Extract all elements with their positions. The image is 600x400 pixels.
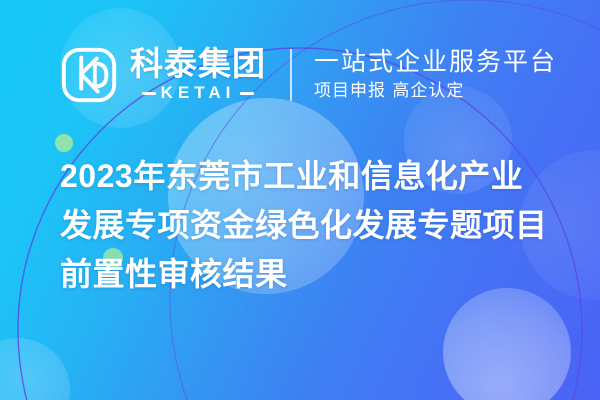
tagline-sub-text: 项目申报 高企认定 [314, 80, 557, 102]
header-divider [290, 49, 292, 101]
banner-header: 科泰集团 KETAI 一站式企业服务平台 项目申报 高企认定 [0, 36, 600, 114]
brand-wordmark: 科泰集团 KETAI [130, 47, 266, 104]
decorative-dot-green-upper [55, 134, 73, 152]
brand-name-en-row: KETAI [142, 83, 255, 103]
ketai-kd-monogram-icon [58, 44, 120, 106]
brand-tagline: 一站式企业服务平台 项目申报 高企认定 [314, 48, 557, 103]
logo-dash-left-icon [142, 92, 156, 95]
logo-dash-right-icon [240, 92, 254, 95]
decorative-circle-bottom-left [0, 338, 70, 400]
banner-title: 2023年东莞市工业和信息化产业发展专项资金绿色化发展专题项目前置性审核结果 [60, 152, 552, 299]
tagline-main-text: 一站式企业服务平台 [314, 48, 557, 78]
brand-name-cn: 科泰集团 [130, 47, 266, 82]
brand-name-en: KETAI [156, 83, 241, 103]
decorative-circle-bottom-right [443, 288, 571, 400]
promo-banner: 科泰集团 KETAI 一站式企业服务平台 项目申报 高企认定 2023年东莞市工… [0, 0, 600, 400]
brand-logo: 科泰集团 KETAI [58, 44, 266, 106]
